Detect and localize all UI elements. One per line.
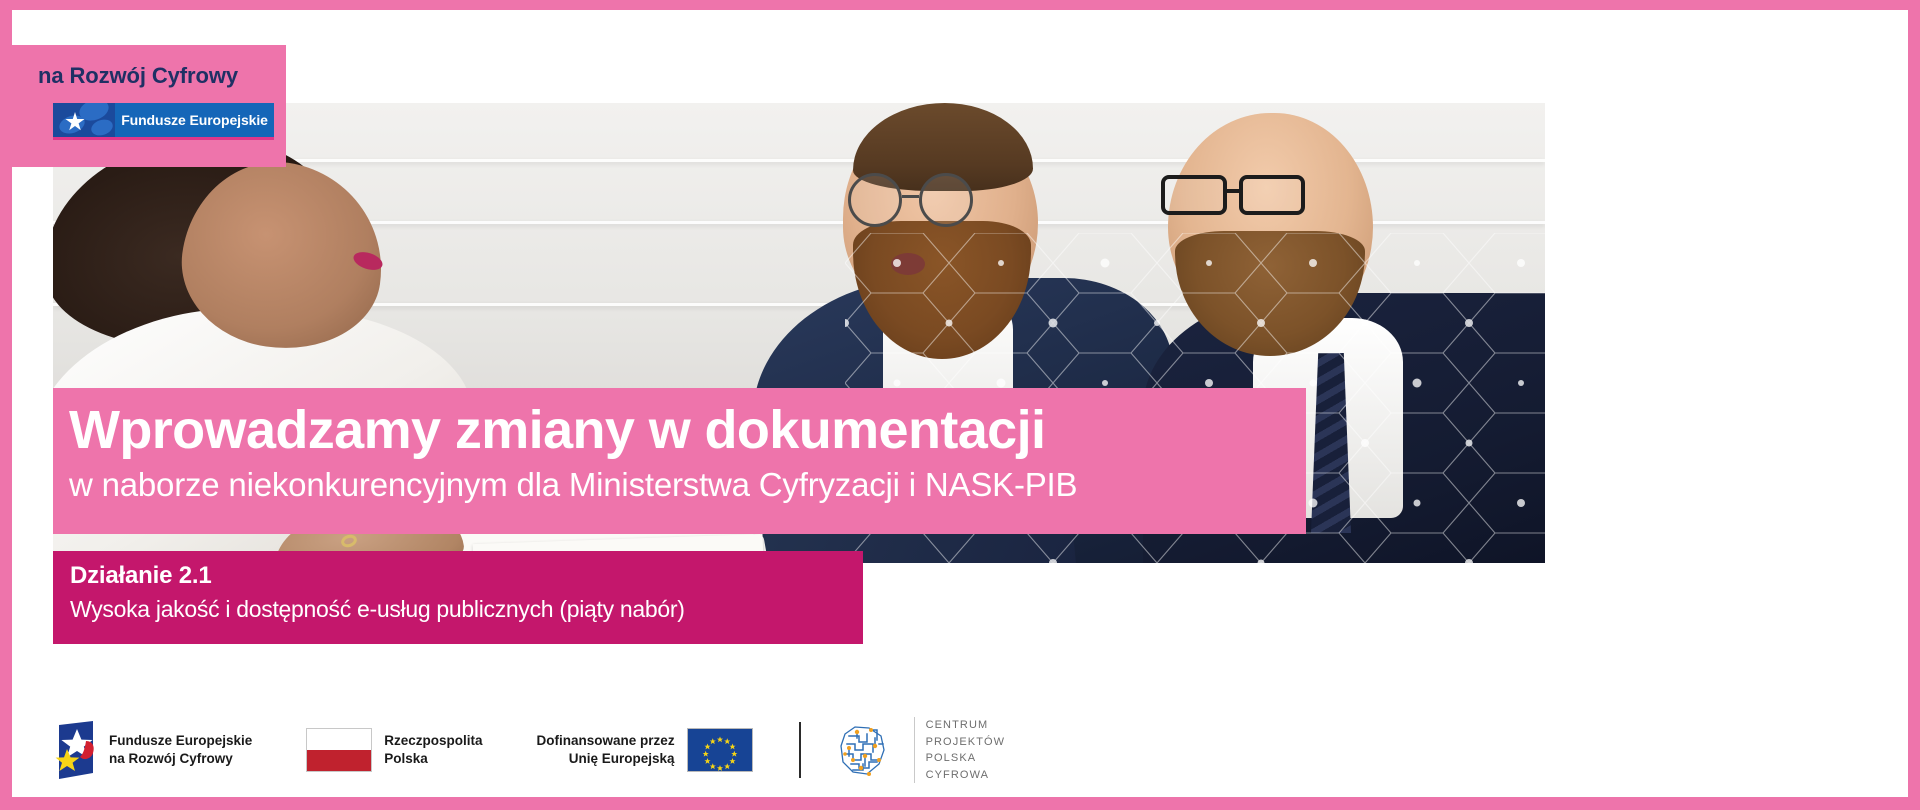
title-band: Wprowadzamy zmiany w dokumentacji w nabo…	[53, 388, 1306, 534]
hero-person-man2-glasses-lens	[1239, 175, 1305, 215]
logo-fundusze-europejskie: Fundusze Europejskie na Rozwój Cyfrowy	[53, 721, 252, 779]
page-subtitle: w naborze niekonkurencyjnym dla Minister…	[69, 467, 1306, 503]
logo-caption-fundusze-europejskie: Fundusze Europejskie na Rozwój Cyfrowy	[109, 732, 252, 768]
fundusze-europejskie-badge: Fundusze Europejskie	[53, 103, 274, 137]
hero-person-man1-glasses-lens	[848, 173, 902, 227]
fundusze-europejskie-badge-label: Fundusze Europejskie	[115, 103, 274, 137]
poland-flag-red-stripe	[307, 750, 371, 771]
action-name: Wysoka jakość i dostępność e-usług publi…	[70, 596, 863, 622]
poland-flag-icon	[306, 728, 372, 772]
page-root: na Rozwój Cyfrowy Fundusze Europejskie W…	[0, 0, 1920, 810]
logo-caption-centrum-projektow-polska-cyfrowa: CENTRUM PROJEKTÓW POLSKA CYFROWA	[914, 717, 1006, 783]
logo-rzeczpospolita-polska: Rzeczpospolita Polska	[306, 728, 482, 772]
fundusze-europejskie-star-mark-icon	[53, 103, 115, 137]
action-number: Działanie 2.1	[70, 562, 863, 590]
hero-person-man1-glasses-lens	[919, 173, 973, 227]
logo-caption-unia-europejska: Dofinansowane przez Unię Europejską	[537, 732, 675, 768]
action-band: Działanie 2.1 Wysoka jakość i dostępność…	[53, 551, 863, 644]
hero-person-man2-glasses-lens	[1161, 175, 1227, 215]
footer-logo-bar: Fundusze Europejskie na Rozwój Cyfrowy R…	[53, 710, 1553, 790]
logo-centrum-projektow-polska-cyfrowa: CENTRUM PROJEKTÓW POLSKA CYFROWA	[835, 717, 1006, 783]
hero-person-man1-glasses-bridge	[902, 195, 919, 198]
hero-person-man2-glasses-bridge	[1227, 189, 1243, 193]
poland-circuit-map-icon	[835, 720, 891, 780]
european-union-flag-icon	[687, 728, 753, 772]
page-title: Wprowadzamy zmiany w dokumentacji	[69, 402, 1306, 459]
footer-divider	[799, 722, 801, 778]
logo-unia-europejska: Dofinansowane przez Unię Europejską	[537, 728, 753, 772]
fe-pink-block-label: na Rozwój Cyfrowy	[38, 63, 238, 89]
hero-person-man1-mouth	[891, 253, 925, 275]
logo-caption-rzeczpospolita-polska: Rzeczpospolita Polska	[384, 732, 482, 768]
fundusze-europejskie-flag-icon	[53, 721, 97, 779]
